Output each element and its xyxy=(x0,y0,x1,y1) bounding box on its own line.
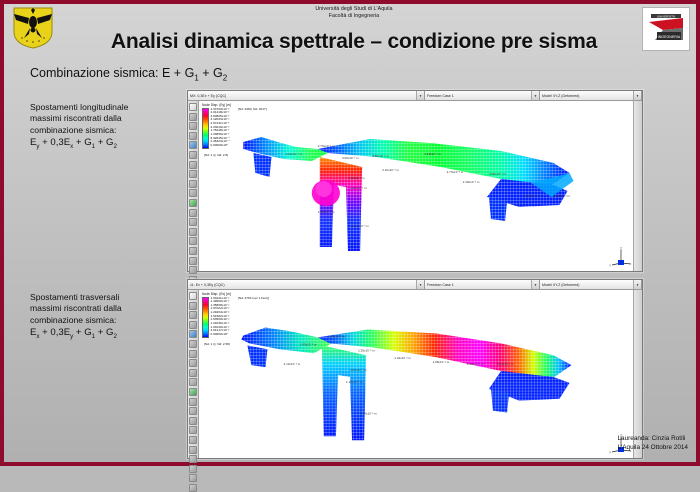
view-mode-dropdown-label: Model XY,Z (Deformed) xyxy=(542,283,633,287)
university-line-1: Università degli Studi di L'Aquila xyxy=(4,6,700,13)
pan-tool-icon[interactable] xyxy=(189,247,197,255)
formula-sub-4: 2 xyxy=(114,333,117,340)
fem-side-toolbar[interactable] xyxy=(188,290,199,458)
svg-text:3.89x10⁻³ m: 3.89x10⁻³ m xyxy=(425,152,442,156)
footer-author: Laureanda: Cinzia Rotili xyxy=(617,434,688,443)
caption-line-2: massimi riscontrati dalla xyxy=(30,303,182,314)
chevron-down-icon[interactable]: ▾ xyxy=(531,280,539,289)
svg-text:2.73x10⁻³ m: 2.73x10⁻³ m xyxy=(447,170,464,174)
caption-line-1: Spostamenti longitudinale xyxy=(30,102,182,113)
svg-text:2.79x10⁻³ m: 2.79x10⁻³ m xyxy=(318,144,335,148)
caption-formula: Ey + 0,3Ex + G1 + G2 xyxy=(30,137,182,152)
fem-window-transversal[interactable]: 11: Ex + 0,3Ey (CQC) ▾ Freedom Case 1 ▾ … xyxy=(187,279,643,459)
freedom-case-dropdown-label: Freedom Case 1 xyxy=(427,283,531,287)
line-tool-icon[interactable] xyxy=(189,122,197,130)
node-tool-icon[interactable] xyxy=(189,350,197,358)
combination-mid: + G xyxy=(199,66,223,80)
svg-text:1.35x10⁻² m: 1.35x10⁻² m xyxy=(358,348,375,352)
rotate-tool-icon[interactable] xyxy=(189,257,197,265)
svg-text:1.26x10⁻³ m: 1.26x10⁻³ m xyxy=(352,224,369,228)
seismic-combination-line: Combinazione sismica: E + G1 + G2 xyxy=(30,66,227,83)
fem-scrollbar[interactable] xyxy=(633,290,642,458)
svg-text:1.49x10⁻² m: 1.49x10⁻² m xyxy=(328,334,345,338)
svg-text:Z: Z xyxy=(620,247,622,251)
fem-mesh-longitudinal: 2.02x10⁻³ m 2.79x10⁻³ m 3.06x10⁻³ m 3.58… xyxy=(199,101,642,271)
restraint-tool-icon[interactable] xyxy=(189,180,197,188)
select-tool-icon[interactable] xyxy=(189,292,197,300)
formula-sub-4: 2 xyxy=(114,143,117,150)
fem-window-longitudinal[interactable]: MX: 0,3Ex + Ey (CQC) ▾ Freedom Case 1 ▾ … xyxy=(187,90,643,272)
measure-tool-icon[interactable] xyxy=(189,151,197,159)
point-tool-icon[interactable] xyxy=(189,302,197,310)
caption-transversal: Spostamenti trasversali massimi riscontr… xyxy=(30,292,182,343)
chevron-down-icon[interactable]: ▾ xyxy=(633,91,641,100)
slide-root: UNIVERSITÀ INGEGNERIA Università degli S… xyxy=(0,0,700,466)
formula-post-2: + G xyxy=(95,137,113,148)
load-case-dropdown[interactable]: 11: Ex + 0,3Ey (CQC) ▾ xyxy=(188,280,425,289)
zoom-tool-icon[interactable] xyxy=(189,426,197,434)
university-line-2: Facoltà di Ingegneria xyxy=(4,13,700,20)
caption-formula: Ex + 0,3Ey + G1 + G2 xyxy=(30,327,182,342)
svg-text:2.10x10⁻³ m: 2.10x10⁻³ m xyxy=(382,168,399,172)
fem-mesh-transversal: 1.63x10⁻² m 1.49x10⁻² m 1.35x10⁻² m 1.22… xyxy=(199,290,642,458)
plate-tool-icon[interactable] xyxy=(189,132,197,140)
svg-text:Y: Y xyxy=(609,451,611,455)
fem-body: Node Disp. (Ey) [m] 4.33700x10⁻³ 4.01418… xyxy=(188,101,642,271)
view-mode-dropdown-label: Model XY,Z (Deformed) xyxy=(542,94,633,98)
fem-toolbar-top: MX: 0,3Ex + Ey (CQC) ▾ Freedom Case 1 ▾ … xyxy=(188,91,642,101)
svg-text:1.22x10⁻² m: 1.22x10⁻² m xyxy=(394,356,411,360)
university-header: Università degli Studi di L'Aquila Facol… xyxy=(4,6,700,20)
svg-text:1.63x10⁻² m: 1.63x10⁻² m xyxy=(300,342,317,346)
result-tool-icon[interactable] xyxy=(189,388,197,396)
rotate-tool-icon[interactable] xyxy=(189,446,197,454)
formula-post: + G xyxy=(73,327,91,338)
formula-post-2: + G xyxy=(95,327,113,338)
svg-text:2.18x10⁻³ m: 2.18x10⁻³ m xyxy=(463,180,480,184)
restraint-tool-icon[interactable] xyxy=(189,369,197,377)
svg-text:1.48x10⁻³ m: 1.48x10⁻³ m xyxy=(350,186,367,190)
svg-text:3.34x10⁻³ m: 3.34x10⁻³ m xyxy=(360,412,377,416)
freedom-case-dropdown[interactable]: Freedom Case 1 ▾ xyxy=(425,91,540,100)
select-tool-icon[interactable] xyxy=(189,103,197,111)
plate-tool-icon[interactable] xyxy=(189,321,197,329)
svg-text:Y: Y xyxy=(609,264,611,268)
freedom-case-dropdown-label: Freedom Case 1 xyxy=(427,94,531,98)
chevron-down-icon[interactable]: ▾ xyxy=(416,280,424,289)
result-tool-icon[interactable] xyxy=(189,199,197,207)
section-tool-icon[interactable] xyxy=(189,218,197,226)
slide-footer: Laureanda: Cinzia Rotili L'Aquila 24 Ott… xyxy=(617,434,688,452)
axis-triad-icon: Z X Y xyxy=(608,247,634,267)
chevron-down-icon[interactable]: ▾ xyxy=(633,280,641,289)
formula-mid: + 0,3E xyxy=(40,327,71,338)
fem-scrollbar[interactable] xyxy=(633,101,642,271)
chevron-down-icon[interactable]: ▾ xyxy=(531,91,539,100)
section-tool-icon[interactable] xyxy=(189,407,197,415)
formula-post: + G xyxy=(73,137,91,148)
svg-text:4.12x10⁻³ m: 4.12x10⁻³ m xyxy=(284,362,301,366)
svg-text:1.90x10⁻³ m: 1.90x10⁻³ m xyxy=(318,210,335,214)
line-tool-icon[interactable] xyxy=(189,311,197,319)
combination-prefix: Combinazione sismica: E + G xyxy=(30,66,194,80)
pan-tool-icon[interactable] xyxy=(189,436,197,444)
svg-text:3.00x10⁻³ m: 3.00x10⁻³ m xyxy=(489,172,506,176)
freedom-case-dropdown[interactable]: Freedom Case 1 ▾ xyxy=(425,280,540,289)
load-tool-icon[interactable] xyxy=(189,189,197,197)
load-case-dropdown-label: MX: 0,3Ex + Ey (CQC) xyxy=(190,94,416,98)
caption-line-3: combinazione sismica: xyxy=(30,125,182,136)
svg-text:8.10x10⁻³ m: 8.10x10⁻³ m xyxy=(497,362,514,366)
formula-mid: + 0,3E xyxy=(40,137,71,148)
view-mode-dropdown[interactable]: Model XY,Z (Deformed) ▾ xyxy=(540,280,642,289)
fem-side-toolbar[interactable] xyxy=(188,101,199,271)
svg-text:4.33x10⁻³ m: 4.33x10⁻³ m xyxy=(553,194,570,198)
svg-text:3.06x10⁻³ m: 3.06x10⁻³ m xyxy=(342,156,359,160)
fem-canvas-longitudinal[interactable]: Node Disp. (Ey) [m] 4.33700x10⁻³ 4.01418… xyxy=(199,101,642,271)
contour-tool-icon[interactable] xyxy=(189,209,197,217)
svg-text:9.46x10⁻³ m: 9.46x10⁻³ m xyxy=(467,362,484,366)
svg-text:2.68x10⁻³ m: 2.68x10⁻³ m xyxy=(348,176,365,180)
measure-tool-icon[interactable] xyxy=(189,340,197,348)
combination-sub-2: 2 xyxy=(223,74,227,83)
svg-text:1.08x10⁻² m: 1.08x10⁻² m xyxy=(433,360,450,364)
point-tool-icon[interactable] xyxy=(189,113,197,121)
fem-canvas-transversal[interactable]: Node Disp. (Ex) [m] 1.63241x10⁻² 1.49660… xyxy=(199,290,642,458)
label-tool-icon[interactable] xyxy=(189,228,197,236)
fem-body: Node Disp. (Ex) [m] 1.63241x10⁻² 1.49660… xyxy=(188,290,642,458)
caption-line-1: Spostamenti trasversali xyxy=(30,292,182,303)
brick-tool-icon[interactable] xyxy=(189,330,197,338)
grid-tool-icon[interactable] xyxy=(189,170,197,178)
caption-line-2: massimi riscontrati dalla xyxy=(30,113,182,124)
svg-text:3.58x10⁻³ m: 3.58x10⁻³ m xyxy=(372,154,389,158)
svg-text:1.20x10⁻³ m: 1.20x10⁻³ m xyxy=(523,194,540,198)
svg-text:1.10x10⁻³ m: 1.10x10⁻³ m xyxy=(346,380,363,384)
node-tool-icon[interactable] xyxy=(189,161,197,169)
caption-line-3: combinazione sismica: xyxy=(30,315,182,326)
load-tool-icon[interactable] xyxy=(189,378,197,386)
page-title: Analisi dinamica spettrale – condizione … xyxy=(4,30,700,54)
view-mode-dropdown[interactable]: Model XY,Z (Deformed) ▾ xyxy=(540,91,642,100)
chevron-down-icon[interactable]: ▾ xyxy=(416,91,424,100)
brick-tool-icon[interactable] xyxy=(189,141,197,149)
label-tool-icon[interactable] xyxy=(189,417,197,425)
svg-text:2.02x10⁻³ m: 2.02x10⁻³ m xyxy=(286,152,303,156)
load-case-dropdown-label: 11: Ex + 0,3Ey (CQC) xyxy=(190,283,416,287)
render-tool-icon[interactable] xyxy=(189,455,197,463)
svg-text:2.85x10⁻³ m: 2.85x10⁻³ m xyxy=(350,368,367,372)
settings-tool-icon[interactable] xyxy=(189,474,197,482)
print-tool-icon[interactable] xyxy=(189,484,197,492)
load-case-dropdown[interactable]: MX: 0,3Ex + Ey (CQC) ▾ xyxy=(188,91,425,100)
caption-longitudinal: Spostamenti longitudinale massimi riscon… xyxy=(30,102,182,153)
contour-tool-icon[interactable] xyxy=(189,398,197,406)
grid-tool-icon[interactable] xyxy=(189,359,197,367)
zoom-tool-icon[interactable] xyxy=(189,237,197,245)
render-tool-icon[interactable] xyxy=(189,266,197,274)
fem-toolbar-top: 11: Ex + 0,3Ey (CQC) ▾ Freedom Case 1 ▾ … xyxy=(188,280,642,290)
footer-place-date: L'Aquila 24 Ottobre 2014 xyxy=(617,443,688,452)
